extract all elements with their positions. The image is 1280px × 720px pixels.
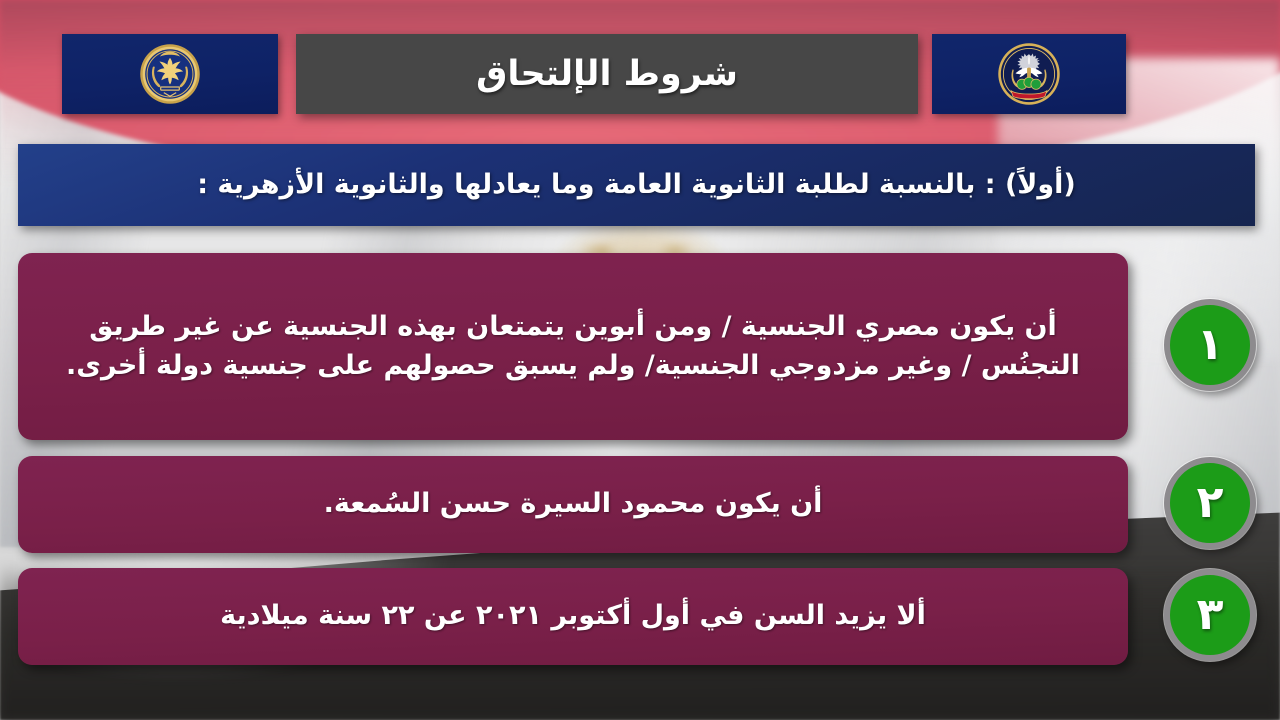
condition-number-2: ٢ (1197, 481, 1224, 525)
condition-text-box-1: أن يكون مصري الجنسية / ومن أبوين يتمتعان… (18, 253, 1128, 440)
condition-text-box-3: ألا يزيد السن في أول أكتوبر ٢٠٢١ عن ٢٢ س… (18, 568, 1128, 665)
condition-number-3: ٣ (1197, 593, 1224, 637)
slide-canvas: شروط الإلتحاق (0, 0, 1280, 720)
condition-number-badge-3: ٣ (1164, 569, 1256, 661)
condition-text-2: أن يكون محمود السيرة حسن السُمعة. (324, 485, 823, 523)
condition-text-1: أن يكون مصري الجنسية / ومن أبوين يتمتعان… (44, 308, 1102, 385)
conditions-list: أن يكون مصري الجنسية / ومن أبوين يتمتعان… (0, 0, 1280, 720)
condition-number-badge-2: ٢ (1164, 457, 1256, 549)
condition-number-1: ١ (1197, 323, 1224, 367)
condition-text-box-2: أن يكون محمود السيرة حسن السُمعة. (18, 456, 1128, 553)
condition-number-badge-1: ١ (1164, 299, 1256, 391)
condition-text-3: ألا يزيد السن في أول أكتوبر ٢٠٢١ عن ٢٢ س… (220, 597, 926, 635)
